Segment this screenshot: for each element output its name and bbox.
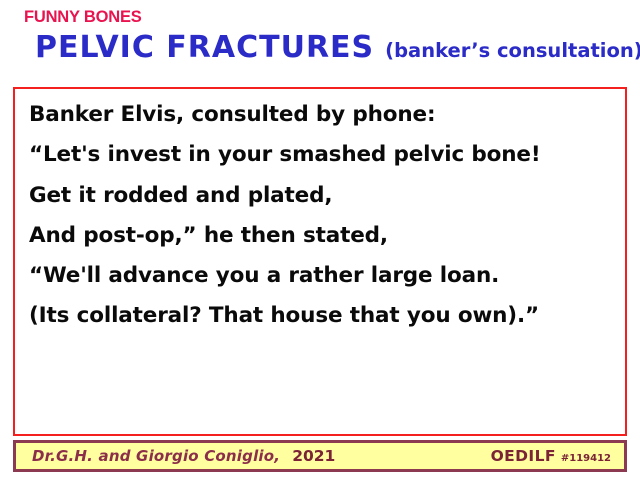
verse-line: (Its collateral? That house that you own…	[29, 304, 617, 328]
credit-year: 2021	[292, 447, 335, 465]
verse-lines: Banker Elvis, consulted by phone: “Let's…	[29, 103, 617, 329]
credit-authors: Dr.G.H. and Giorgio Coniglio,	[32, 447, 280, 465]
series-label: FUNNY BONES	[24, 9, 142, 26]
verse-box: Banker Elvis, consulted by phone: “Let's…	[13, 87, 627, 436]
footer-bar: Dr.G.H. and Giorgio Coniglio, 2021 OEDIL…	[13, 440, 627, 472]
verse-line: “Let's invest in your smashed pelvic bon…	[29, 143, 617, 167]
footer-credit: Dr.G.H. and Giorgio Coniglio, 2021	[32, 447, 335, 465]
footer-attribution: OEDILF #119412	[491, 447, 611, 465]
oedilf-entry-number: #119412	[561, 453, 611, 464]
title-row: PELVIC FRACTURES (banker’s consultation)	[35, 33, 640, 63]
slide-header: FUNNY BONES PELVIC FRACTURES (banker’s c…	[0, 0, 640, 84]
slide-canvas: FUNNY BONES PELVIC FRACTURES (banker’s c…	[0, 0, 640, 480]
verse-line: Banker Elvis, consulted by phone:	[29, 103, 617, 127]
oedilf-label: OEDILF	[491, 447, 556, 465]
verse-line: “We'll advance you a rather large loan.	[29, 264, 617, 288]
page-title: PELVIC FRACTURES	[35, 33, 374, 63]
verse-line: And post-op,” he then stated,	[29, 224, 617, 248]
verse-line: Get it rodded and plated,	[29, 184, 617, 208]
page-subtitle: (banker’s consultation)	[385, 41, 640, 61]
